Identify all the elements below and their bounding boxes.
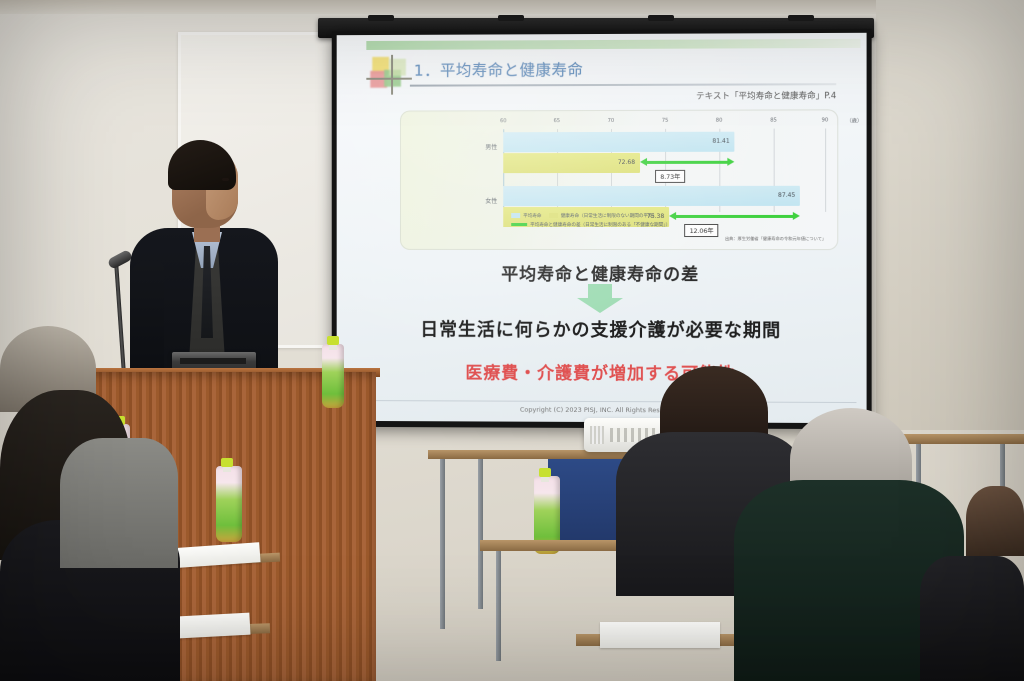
slide-message-alert: 医療費・介護費が増加する可能性	[337, 358, 867, 385]
audience-member-head	[966, 486, 1024, 556]
gridline	[825, 128, 826, 211]
beverage-bottle[interactable]	[216, 466, 242, 542]
x-tick: 80	[716, 118, 723, 124]
difference-label-male: 8.73年	[655, 170, 685, 183]
slide-top-accent-bar	[366, 39, 860, 50]
chart-panel: 60 65 70 75 80 85 90 （歳）	[400, 109, 838, 250]
slide-message-secondary: 日常生活に何らかの支援介護が必要な期間	[337, 315, 867, 342]
x-tick: 65	[554, 118, 561, 124]
x-tick: 85	[770, 118, 777, 124]
legend-row-1: 平均寿命 健康寿命（日常生活に制限のない期間の平均）	[511, 213, 670, 222]
bar-value: 81.41	[712, 137, 729, 144]
desk-right-rear	[900, 434, 1024, 444]
x-tick: 60	[500, 118, 507, 124]
screenshot-root: 1．平均寿命と健康寿命 テキスト「平均寿命と健康寿命」P.4 60 65 70 …	[0, 0, 1024, 681]
x-axis-unit-label: （歳）	[846, 117, 862, 124]
slide-title: 1．平均寿命と健康寿命	[414, 58, 584, 81]
audience-member-body	[60, 438, 178, 568]
x-tick: 70	[608, 118, 615, 124]
legend-label-healthy: 健康寿命（日常生活に制限のない期間の平均）	[561, 214, 658, 219]
presenter-arm	[130, 262, 164, 374]
bar-male-life-expectancy: 81.41	[503, 132, 734, 152]
audience-member-body	[920, 556, 1024, 681]
chart-source-note: 出典：厚生労働省「健康寿命の令和元年値について」	[725, 236, 826, 242]
bar-value: 87.45	[778, 191, 795, 198]
category-label-female: 女性	[446, 196, 498, 205]
slide-copyright: Copyright (C) 2023 PISJ, INC. All Rights…	[337, 405, 867, 415]
bar-value: 72.68	[618, 158, 635, 165]
x-tick: 90	[822, 117, 829, 123]
wall-ceiling-edge	[0, 0, 1024, 14]
x-tick: 75	[662, 118, 669, 124]
slide-title-underline	[410, 83, 836, 86]
legend-label-life: 平均寿命	[523, 214, 541, 219]
category-label-male: 男性	[446, 142, 498, 151]
table-leg	[478, 459, 483, 609]
handout-paper	[600, 622, 720, 648]
down-arrow-icon	[577, 284, 623, 314]
difference-arrow-male	[640, 158, 735, 167]
legend-arrow-icon	[511, 223, 527, 226]
legend-swatch-healthy	[549, 213, 558, 218]
slide-footer-divider	[347, 400, 857, 403]
legend-swatch-life	[511, 213, 520, 218]
difference-arrow-female	[669, 212, 800, 221]
projection-screen: 1．平均寿命と健康寿命 テキスト「平均寿命と健康寿命」P.4 60 65 70 …	[332, 29, 872, 430]
chart-x-axis: 60 65 70 75 80 85 90 （歳）	[503, 117, 828, 129]
chart-plot-area: 60 65 70 75 80 85 90 （歳）	[503, 117, 828, 208]
slide-reference-text: テキスト「平均寿命と健康寿命」P.4	[696, 89, 836, 101]
presentation-slide: 1．平均寿命と健康寿命 テキスト「平均寿命と健康寿命」P.4 60 65 70 …	[337, 33, 867, 423]
table-leg	[496, 551, 501, 661]
presenter-eye	[222, 178, 229, 181]
right-wall	[876, 0, 1024, 430]
legend-row-2: 平均寿命と健康寿命の差（日常生活に制限のある「不健康な期間」）	[511, 222, 670, 230]
bar-female-life-expectancy: 87.45	[503, 186, 800, 206]
chart-legend: 平均寿命 健康寿命（日常生活に制限のない期間の平均） 平均寿命と健康寿命の差（日…	[511, 213, 670, 230]
difference-label-female: 12.06年	[685, 224, 719, 237]
table-leg	[440, 459, 445, 629]
beverage-bottle[interactable]	[322, 344, 344, 408]
slide-logo-icon	[370, 57, 406, 91]
legend-label-difference: 平均寿命と健康寿命の差（日常生活に制限のある「不健康な期間」）	[530, 223, 670, 228]
slide-message-primary: 平均寿命と健康寿命の差	[337, 260, 867, 286]
bar-male-healthy-life: 72.68	[503, 153, 640, 173]
